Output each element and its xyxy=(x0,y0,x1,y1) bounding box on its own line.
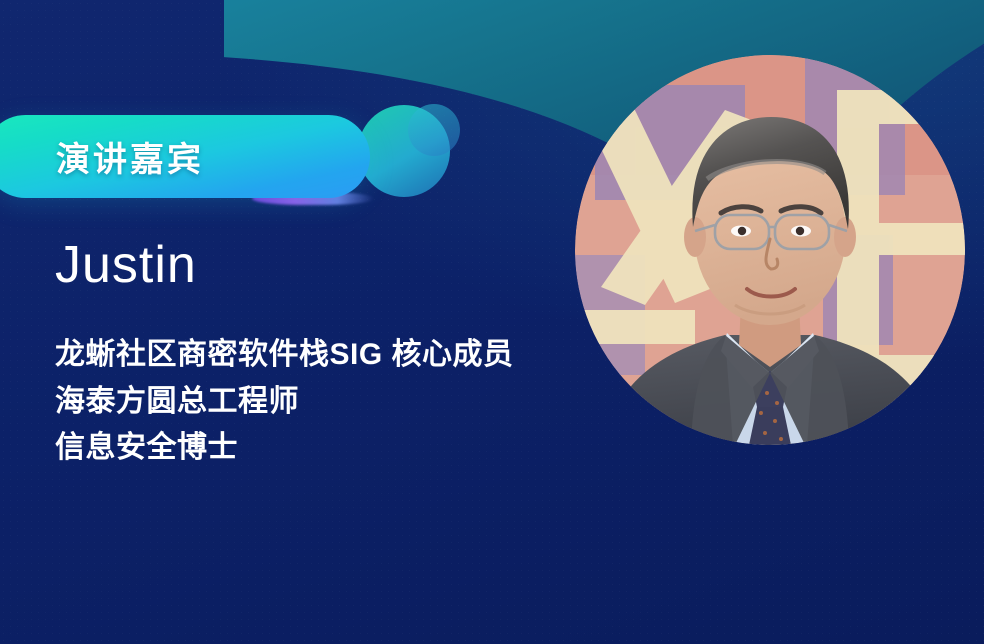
speaker-badge: 演讲嘉宾 xyxy=(0,115,370,198)
speaker-name: Justin xyxy=(55,238,197,293)
speaker-portrait xyxy=(575,55,965,445)
speaker-card: 演讲嘉宾 Justin 龙蜥社区商密软件栈SIG 核心成员 海泰方圆总工程师 信… xyxy=(0,0,984,644)
credential-line: 海泰方圆总工程师 xyxy=(55,379,514,426)
credential-line: 信息安全博士 xyxy=(55,425,514,472)
speaker-credentials: 龙蜥社区商密软件栈SIG 核心成员 海泰方圆总工程师 信息安全博士 xyxy=(55,332,514,472)
deco-circle-small xyxy=(408,104,460,156)
speaker-badge-label: 演讲嘉宾 xyxy=(56,132,204,181)
credential-line: 龙蜥社区商密软件栈SIG 核心成员 xyxy=(55,332,514,379)
